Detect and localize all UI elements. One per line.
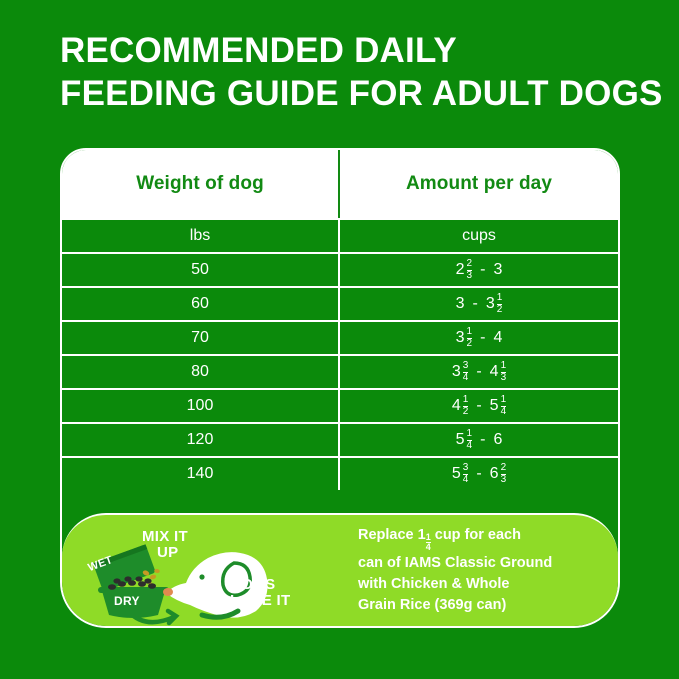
units-amount: cups <box>340 220 618 252</box>
cell-amount: 334 - 413 <box>340 356 618 388</box>
amount-high-fraction: 12 <box>497 293 503 314</box>
note-line2: can of IAMS Classic Ground <box>358 555 552 571</box>
column-header-amount: Amount per day <box>340 150 618 218</box>
amount-low-whole: 2 <box>456 262 465 278</box>
table-row: 50 223 - 3 <box>62 252 618 286</box>
mix-it-up-logo <box>62 515 340 626</box>
table-header-row: Weight of dog Amount per day <box>62 150 618 218</box>
feeding-guide-table: Weight of dog Amount per day lbs cups 50… <box>60 148 620 628</box>
amount-low-fraction: 23 <box>467 259 473 280</box>
mix-it-up-logo-area: MIX IT UP DOGS LOVE IT WET DRY <box>62 515 340 626</box>
range-dash: - <box>477 432 488 448</box>
note-line4: Grain Rice (369g can) <box>358 597 506 613</box>
range-dash: - <box>477 330 488 346</box>
table-row: 120 514 - 6 <box>62 422 618 456</box>
logo-text-up: UP <box>157 545 178 561</box>
range-dash: - <box>470 296 481 312</box>
note-line3: with Chicken & Whole <box>358 576 509 592</box>
amount-low-whole: 3 <box>456 330 465 346</box>
amount-low-fraction: 34 <box>463 361 469 382</box>
mix-it-up-illustration <box>62 515 342 626</box>
mix-it-up-footer-panel: MIX IT UP DOGS LOVE IT WET DRY Replace 1… <box>62 513 618 626</box>
note-line1-rest: cup for each <box>431 527 521 543</box>
logo-text-dogs-love-it: DOGS LOVE IT <box>230 577 290 608</box>
units-weight: lbs <box>62 220 340 252</box>
amount-low-whole: 3 <box>452 364 461 380</box>
table-row: 60 3 - 312 <box>62 286 618 320</box>
cell-amount: 3 - 312 <box>340 288 618 320</box>
amount-low-fraction: 12 <box>463 395 469 416</box>
cell-weight: 60 <box>62 288 340 320</box>
cell-amount: 514 - 6 <box>340 424 618 456</box>
table-units-row: lbs cups <box>62 218 618 252</box>
amount-high-whole: 6 <box>490 466 499 482</box>
amount-high-fraction: 14 <box>501 395 507 416</box>
amount-low-whole: 3 <box>456 296 465 312</box>
logo-text-dogs: DOGS <box>230 576 275 593</box>
column-header-weight: Weight of dog <box>62 150 340 218</box>
feeding-note-area: Replace 114 cup for each can of IAMS Cla… <box>340 515 618 626</box>
page-title-line-1: RECOMMENDED DAILY <box>60 30 660 73</box>
logo-text-love-it: LOVE IT <box>230 592 290 609</box>
page-title-line-2: FEEDING GUIDE FOR ADULT DOGS <box>60 73 660 116</box>
table-row: 80 334 - 413 <box>62 354 618 388</box>
cell-weight: 50 <box>62 254 340 286</box>
cell-weight: 140 <box>62 458 340 490</box>
range-dash: - <box>473 466 484 482</box>
logo-text-dry: DRY <box>114 595 140 607</box>
page-title: RECOMMENDED DAILY FEEDING GUIDE FOR ADUL… <box>60 30 660 115</box>
amount-low-fraction: 34 <box>463 463 469 484</box>
cell-weight: 120 <box>62 424 340 456</box>
cell-amount: 312 - 4 <box>340 322 618 354</box>
amount-low-whole: 5 <box>452 466 461 482</box>
amount-high-fraction: 13 <box>501 361 507 382</box>
amount-high-whole: 6 <box>493 432 502 448</box>
amount-high-fraction: 23 <box>501 463 507 484</box>
amount-low-fraction: 14 <box>467 429 473 450</box>
amount-low-whole: 4 <box>452 398 461 414</box>
table-row: 140 534 - 623 <box>62 456 618 490</box>
table-row: 70 312 - 4 <box>62 320 618 354</box>
logo-text-mix-it: MIX IT <box>142 529 188 545</box>
note-prefix: Replace 1 <box>358 527 426 543</box>
range-dash: - <box>473 364 484 380</box>
cell-amount: 412 - 514 <box>340 390 618 422</box>
feeding-note-text: Replace 114 cup for each can of IAMS Cla… <box>358 525 552 615</box>
amount-high-whole: 4 <box>490 364 499 380</box>
amount-high-whole: 3 <box>486 296 495 312</box>
amount-high-whole: 4 <box>493 330 502 346</box>
cell-amount: 223 - 3 <box>340 254 618 286</box>
range-dash: - <box>477 262 488 278</box>
cell-weight: 70 <box>62 322 340 354</box>
amount-low-whole: 5 <box>456 432 465 448</box>
range-dash: - <box>473 398 484 414</box>
cell-amount: 534 - 623 <box>340 458 618 490</box>
amount-low-fraction: 12 <box>467 327 473 348</box>
amount-high-whole: 3 <box>493 262 502 278</box>
table-row: 100 412 - 514 <box>62 388 618 422</box>
cell-weight: 100 <box>62 390 340 422</box>
cell-weight: 80 <box>62 356 340 388</box>
amount-high-whole: 5 <box>490 398 499 414</box>
note-fraction: 14 <box>426 533 431 552</box>
